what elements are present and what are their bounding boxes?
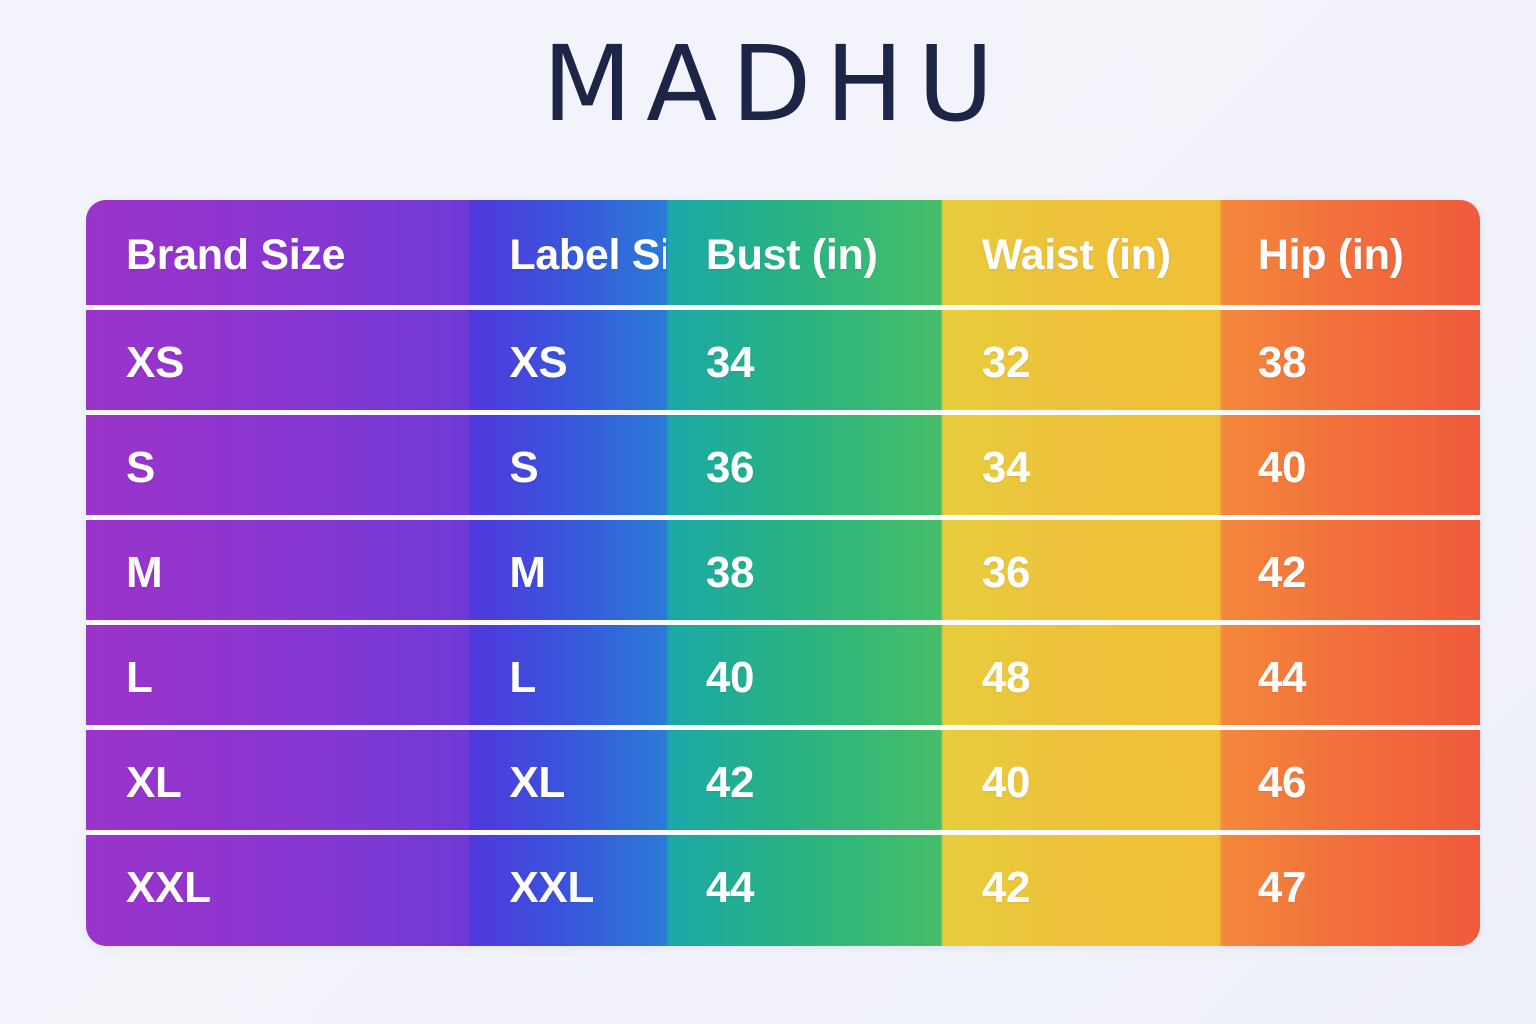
cell-waist: 48 <box>942 653 1218 703</box>
table-row: M M 38 36 42 <box>86 520 1480 625</box>
cell-hip: 40 <box>1218 443 1480 493</box>
column-header-bust: Bust (in) <box>666 231 942 280</box>
cell-waist: 42 <box>942 863 1218 913</box>
column-header-label-size: Label Size <box>469 231 666 280</box>
cell-label-size: XL <box>469 758 666 808</box>
cell-label-size: XXL <box>469 863 666 913</box>
table-row: XS XS 34 32 38 <box>86 310 1480 415</box>
cell-hip: 46 <box>1218 758 1480 808</box>
size-chart-page: MADHU Brand Size Label Size Bust (in) Wa… <box>0 0 1536 1024</box>
column-header-brand-size: Brand Size <box>86 231 469 280</box>
cell-brand-size: S <box>86 443 469 493</box>
cell-brand-size: XL <box>86 758 469 808</box>
cell-hip: 42 <box>1218 548 1480 598</box>
column-header-waist: Waist (in) <box>942 231 1218 280</box>
cell-bust: 40 <box>666 653 942 703</box>
cell-bust: 38 <box>666 548 942 598</box>
cell-bust: 36 <box>666 443 942 493</box>
cell-brand-size: XXL <box>86 863 469 913</box>
cell-brand-size: M <box>86 548 469 598</box>
cell-bust: 42 <box>666 758 942 808</box>
table-body: Brand Size Label Size Bust (in) Waist (i… <box>86 200 1480 946</box>
table-header-row: Brand Size Label Size Bust (in) Waist (i… <box>86 200 1480 310</box>
size-chart-table: Brand Size Label Size Bust (in) Waist (i… <box>86 200 1480 946</box>
page-title: MADHU <box>0 28 1536 140</box>
cell-label-size: L <box>469 653 666 703</box>
cell-label-size: XS <box>469 338 666 388</box>
table-row: L L 40 48 44 <box>86 625 1480 730</box>
cell-bust: 44 <box>666 863 942 913</box>
cell-hip: 44 <box>1218 653 1480 703</box>
table-row: XL XL 42 40 46 <box>86 730 1480 835</box>
cell-waist: 40 <box>942 758 1218 808</box>
column-header-hip: Hip (in) <box>1218 231 1480 280</box>
cell-waist: 36 <box>942 548 1218 598</box>
table-row: S S 36 34 40 <box>86 415 1480 520</box>
cell-hip: 38 <box>1218 338 1480 388</box>
cell-hip: 47 <box>1218 863 1480 913</box>
cell-label-size: S <box>469 443 666 493</box>
cell-brand-size: L <box>86 653 469 703</box>
cell-waist: 32 <box>942 338 1218 388</box>
cell-waist: 34 <box>942 443 1218 493</box>
table-row: XXL XXL 44 42 47 <box>86 835 1480 940</box>
cell-label-size: M <box>469 548 666 598</box>
cell-brand-size: XS <box>86 338 469 388</box>
cell-bust: 34 <box>666 338 942 388</box>
